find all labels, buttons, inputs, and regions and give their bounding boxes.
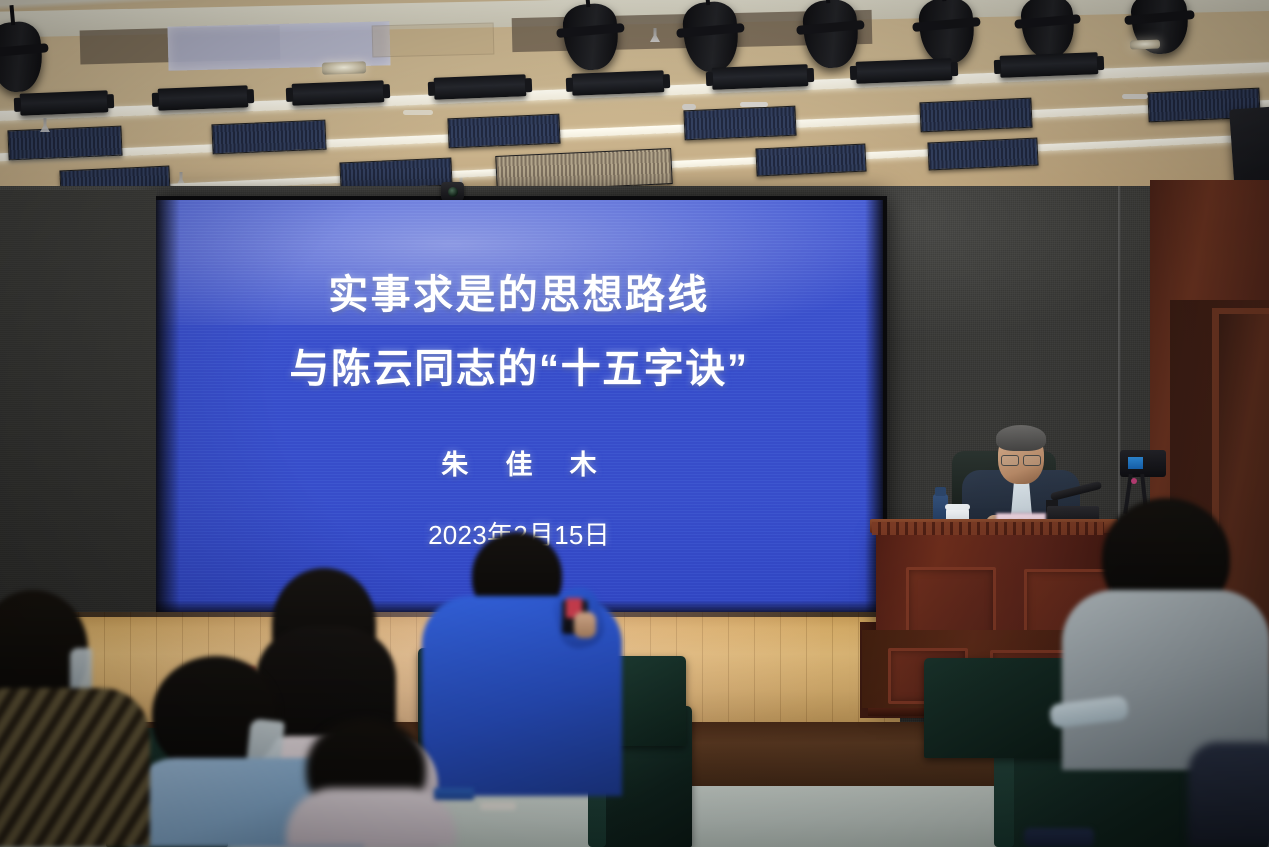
podium-fret-trim [872, 522, 1104, 535]
ceiling-fitting [740, 102, 768, 107]
ceiling-truss-fixture [1000, 52, 1099, 78]
audience-person-right-edge [1188, 742, 1269, 847]
slide-title-line-1: 实事求是的思想路线 [155, 262, 883, 320]
ceiling-return-grille [495, 148, 672, 190]
tripod-marker [1131, 478, 1137, 484]
person-hand [574, 612, 596, 638]
ceiling-truss-fixture [856, 58, 953, 84]
stage-spotlight [1019, 0, 1076, 60]
ceiling-air-vent [7, 126, 122, 161]
slide-title-line-2: 与陈云同志的“十五字诀” [155, 336, 883, 394]
item-on-seat-blue [434, 788, 474, 800]
ceiling-air-vent [927, 138, 1038, 171]
ceiling-access-hatch [372, 23, 495, 58]
lecture-hall-photo: 实事求是的思想路线 与陈云同志的“十五字诀” 朱 佳 木 2023年2月15日 … [0, 0, 1269, 847]
seat [924, 658, 1066, 758]
stage-spotlight [561, 2, 621, 72]
glasses-icon [1001, 455, 1041, 464]
ceiling-truss-fixture [572, 70, 665, 96]
ceiling-downlight [1130, 39, 1160, 49]
ceiling-fitting [682, 104, 696, 110]
ceiling-air-vent [755, 144, 866, 177]
sprinkler-head [40, 118, 50, 132]
ceiling-air-vent [447, 114, 560, 149]
ceiling-air-vent [211, 120, 326, 155]
ceiling-truss-fixture [158, 85, 249, 110]
stage-spotlight [681, 0, 741, 74]
camera-icon [441, 182, 464, 202]
ceiling-fitting [1122, 94, 1148, 99]
ceiling-truss-fixture [434, 74, 527, 100]
wall-speaker [1229, 107, 1269, 190]
person-torso [0, 688, 150, 847]
ceiling-air-vent [683, 106, 796, 141]
ceiling [0, 0, 1269, 190]
stage-spotlight [917, 0, 977, 66]
item-on-seat-white [480, 802, 516, 810]
wall-left-texture [0, 190, 156, 620]
bag-on-seat [1024, 828, 1094, 847]
ceiling-truss-fixture [292, 80, 385, 106]
ceiling-truss-fixture [20, 90, 109, 115]
ceiling-fitting [403, 110, 433, 115]
slide-author: 朱 佳 木 [155, 443, 883, 482]
ceiling-air-vent [919, 98, 1032, 133]
podium-top-rail [870, 519, 1118, 533]
screen-left-shadow [155, 200, 180, 616]
person-torso [286, 788, 456, 847]
ceiling-downlight [322, 61, 366, 75]
camera-lcd-screen [1128, 457, 1143, 469]
stage-spotlight [801, 0, 861, 70]
speaker-hair [996, 425, 1046, 451]
ceiling-truss-fixture [712, 64, 809, 90]
